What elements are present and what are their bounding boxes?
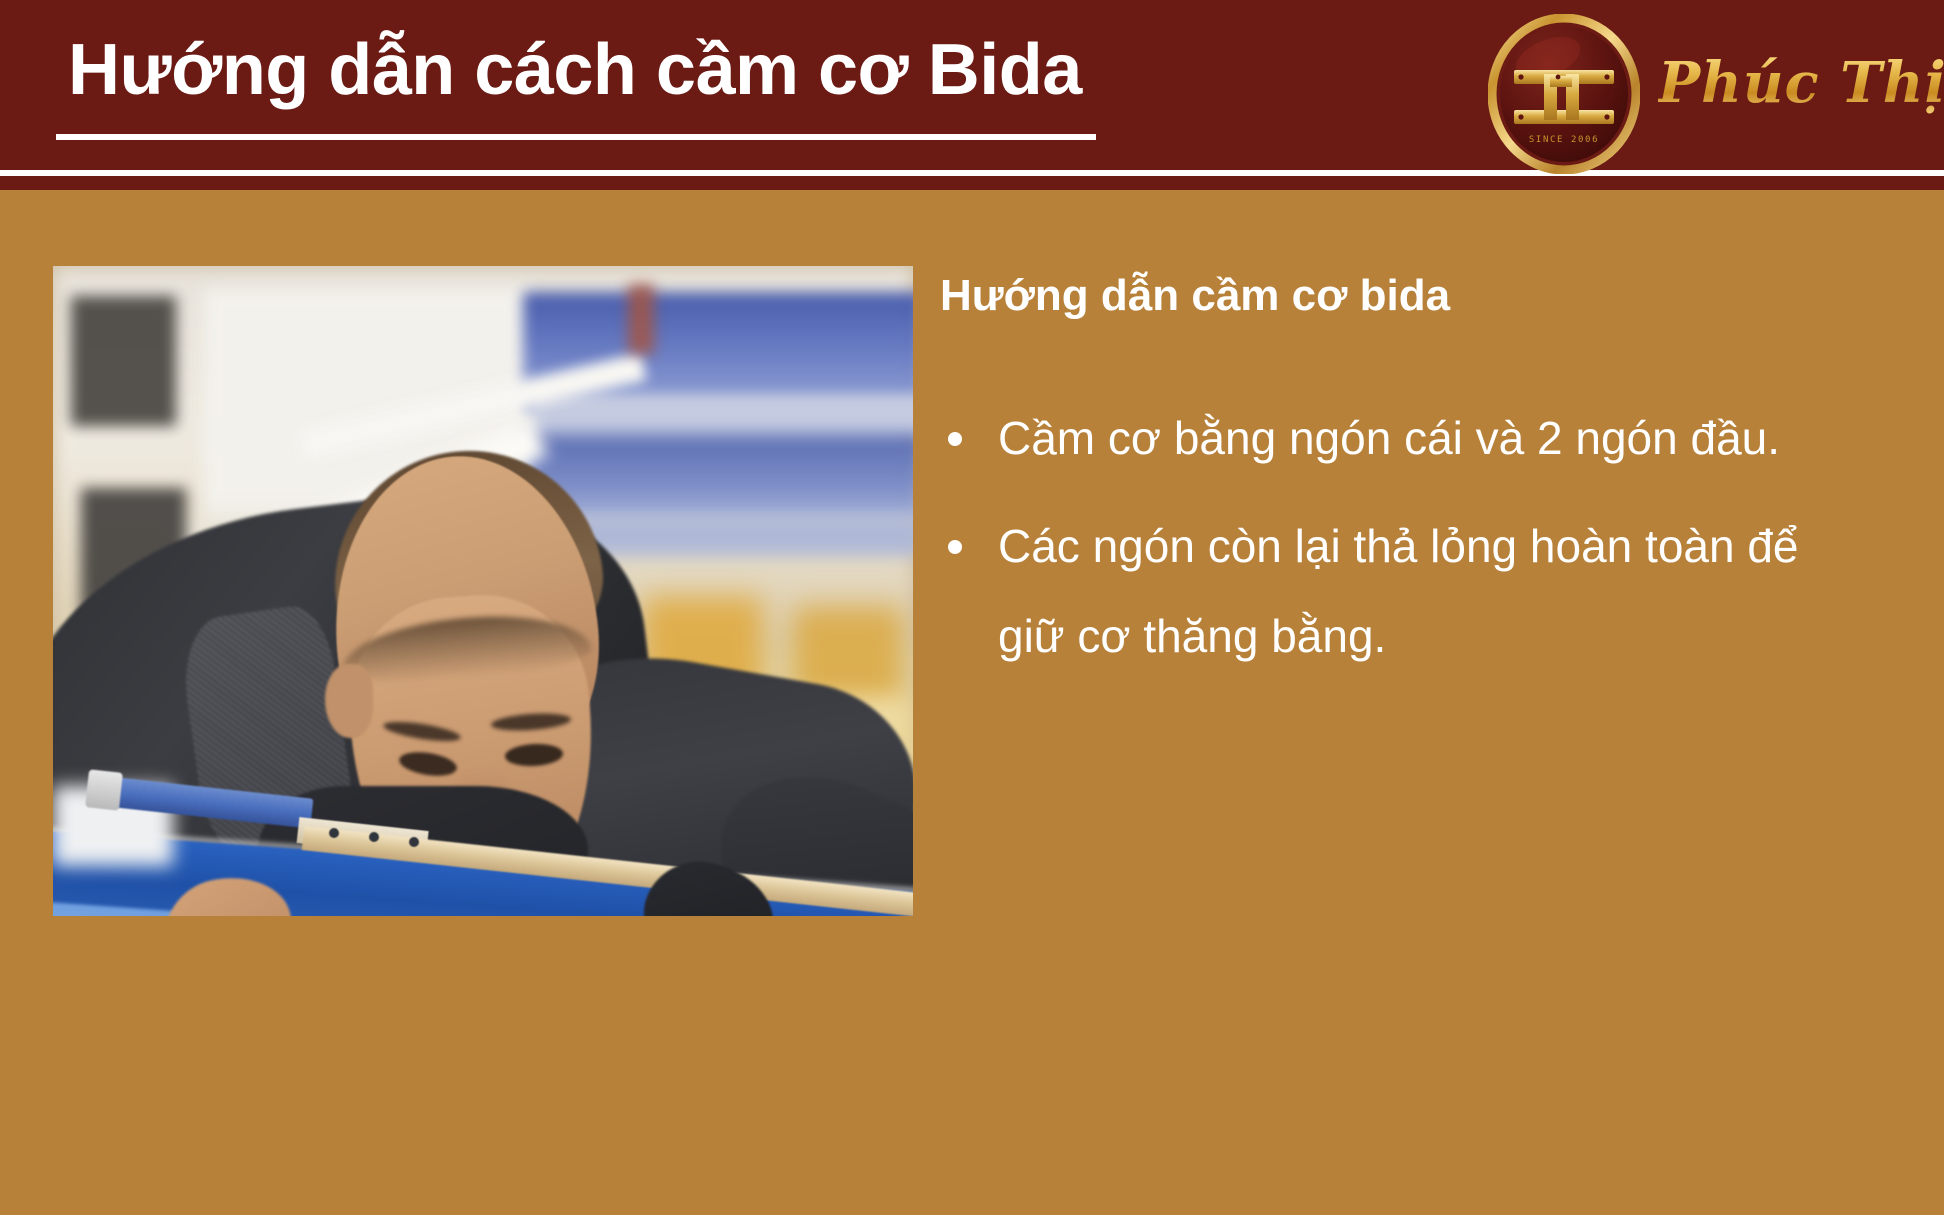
page-title: Hướng dẫn cách cầm cơ Bida	[68, 34, 1168, 106]
photo-cue-inlay-2	[369, 832, 379, 842]
photo-cue-inlay-1	[329, 828, 339, 838]
list-item: Cầm cơ bằng ngón cái và 2 ngón đầu.	[940, 394, 1870, 484]
brand-name: Phúc Thịnh	[1658, 50, 1944, 116]
list-item: Các ngón còn lại thả lỏng hoàn toàn để g…	[940, 502, 1870, 681]
photo-player-ear	[325, 664, 373, 738]
photo-red-accent	[628, 284, 654, 354]
billiards-player-photo	[53, 266, 913, 916]
instructions-panel: Hướng dẫn cầm cơ bida Cầm cơ bằng ngón c…	[940, 272, 1870, 699]
header-separator-gap	[0, 176, 1944, 190]
title-underline	[56, 134, 1096, 140]
logo-badge-icon: SINCE 2006	[1488, 14, 1640, 174]
photo-dark-panel-top	[71, 296, 176, 426]
photo-cue-butt-cap	[85, 769, 123, 810]
photo-cue-inlay-3	[409, 837, 419, 847]
slide-root: Hướng dẫn cách cầm cơ Bida	[0, 0, 1944, 1215]
logo-since-text: SINCE 2006	[1529, 135, 1599, 145]
instructions-list: Cầm cơ bằng ngón cái và 2 ngón đầu. Các …	[940, 394, 1870, 681]
brand-logo: SINCE 2006 Phúc Thịnh	[1488, 14, 1928, 174]
instructions-heading: Hướng dẫn cầm cơ bida	[940, 272, 1870, 320]
